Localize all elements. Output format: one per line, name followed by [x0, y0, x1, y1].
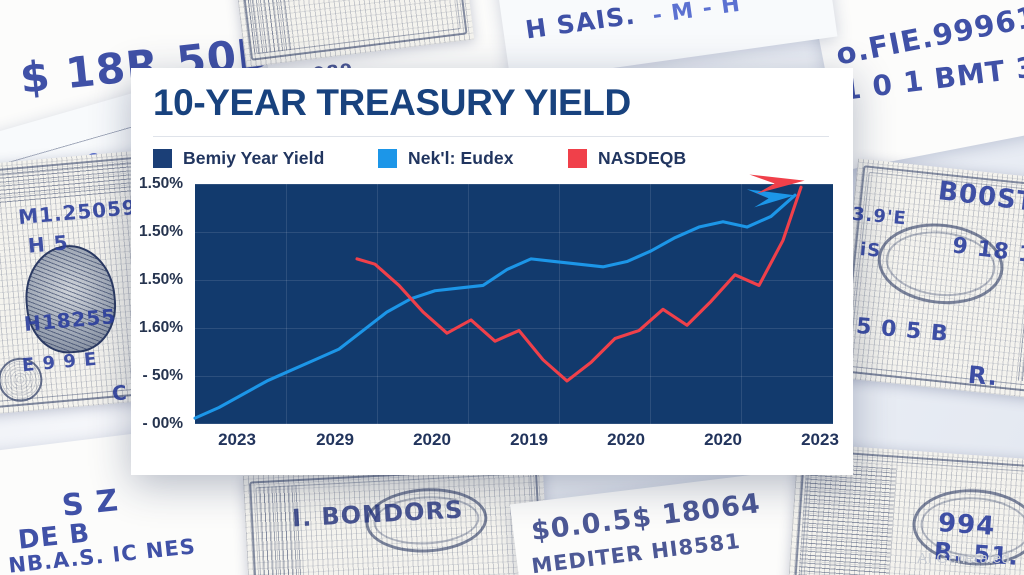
series-line-nasdaq [357, 187, 801, 381]
chart-plot-area [195, 184, 833, 424]
y-tick-label: - 50% [143, 367, 184, 385]
background-scrawl: iS [859, 239, 882, 262]
chart-card: 10-YEAR TREASURY YIELD Bemiy Year Yield … [131, 68, 853, 475]
x-tick-label: 2019 [510, 430, 548, 450]
x-tick-label: 2020 [704, 430, 742, 450]
y-tick-label: 1.60% [139, 319, 183, 337]
background-scrawl: H SAIS. [524, 0, 638, 44]
y-tick-label: 1.50% [139, 223, 183, 241]
legend-swatch-navy [153, 149, 172, 168]
x-axis-labels: 2023 2029 2020 2019 2020 2020 2023 [195, 430, 833, 460]
x-tick-label: 2020 [607, 430, 645, 450]
chart-series-svg [183, 166, 855, 442]
y-axis-labels: 1.50% 1.50% 1.50% 1.60% - 50% - 00% [131, 168, 189, 440]
x-tick-label: 2023 [801, 430, 839, 450]
ai-generated-watermark: AI Generated [917, 550, 1010, 567]
x-tick-label: 2023 [218, 430, 256, 450]
page-title: 10-YEAR TREASURY YIELD [153, 82, 631, 124]
screenshot-root: $ 18R.50B - M - H R 989 HPBRFYIWIK R 989… [0, 0, 1024, 575]
y-tick-label: 1.50% [139, 175, 183, 193]
series-arrowhead-index [747, 189, 795, 207]
background-scrawl: S Z [60, 483, 120, 524]
background-scrawl: R. [967, 361, 999, 392]
background-scrawl: H 5 [27, 230, 70, 257]
x-tick-label: 2020 [413, 430, 451, 450]
x-tick-label: 2029 [316, 430, 354, 450]
y-tick-label: 1.50% [139, 271, 183, 289]
y-tick-label: - 00% [143, 415, 184, 433]
background-scrawl: - M - H [651, 0, 742, 29]
title-divider [153, 136, 829, 137]
